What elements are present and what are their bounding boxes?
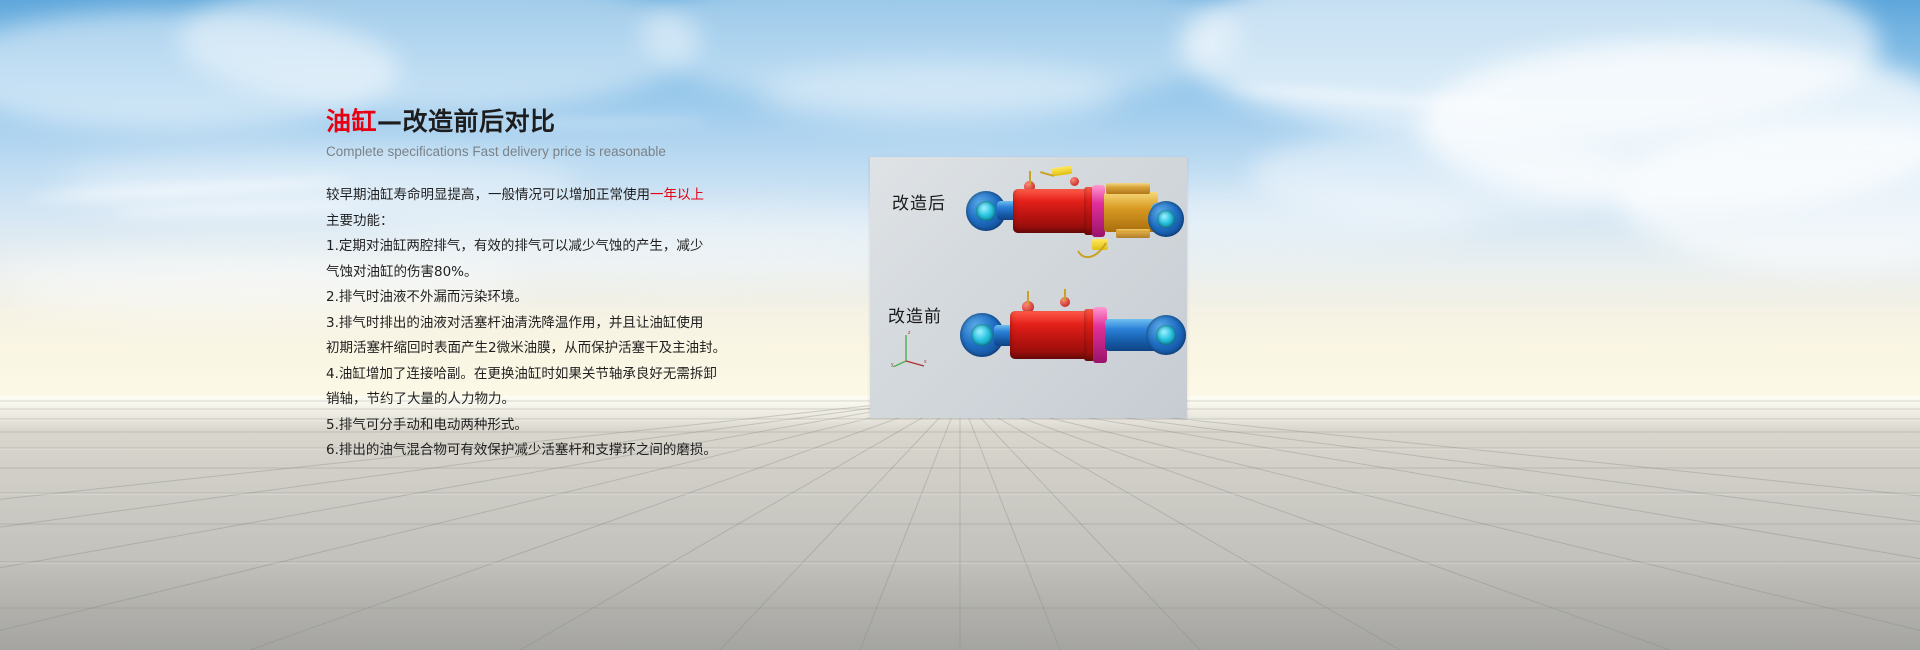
cylinder-coupling-flange (1116, 229, 1150, 238)
cylinder-barrel (1013, 189, 1091, 233)
cylinder-cable (1074, 231, 1114, 265)
ground-plane (0, 396, 1920, 650)
text-line: 5.排气可分手动和电动两种形式。 (326, 413, 746, 439)
cylinder-barrel (1010, 311, 1092, 359)
text-line: 4.油缸增加了连接哈副。在更换油缸时如果关节轴承良好无需拆卸 (326, 362, 746, 388)
title-rest: —改造前后对比 (377, 107, 556, 136)
text-line: 较早期油缸寿命明显提高，一般情况可以增加正常使用一年以上 (326, 183, 746, 209)
text-line: 主要功能： (326, 209, 746, 235)
label-before-modification: 改造前 (888, 302, 942, 327)
cylinder-front-eye (1148, 201, 1184, 237)
text-line: 3.排气时排出的油液对活塞杆油清洗降温作用，并且让油缸使用 (326, 311, 746, 337)
title-highlight: 油缸 (326, 107, 377, 136)
cylinder-after-assembly (966, 165, 1186, 275)
coordinate-axis-icon: z x y (890, 327, 930, 367)
text-line-main: 较早期油缸寿命明显提高，一般情况可以增加正常使用 (326, 187, 650, 203)
feature-text-block: 较早期油缸寿命明显提高，一般情况可以增加正常使用一年以上 主要功能： 1.定期对… (326, 183, 746, 464)
cloud-shape (760, 60, 1120, 130)
text-line: 6.排出的油气混合物可有效保护减少活塞杆和支撑环之间的磨损。 (326, 438, 746, 464)
banner-stage: 油缸—改造前后对比 Complete specifications Fast d… (0, 0, 1920, 650)
svg-text:x: x (924, 359, 927, 365)
text-line: 销轴，节约了大量的人力物力。 (326, 387, 746, 413)
text-line: 1.定期对油缸两腔排气，有效的排气可以减少气蚀的产生，减少 (326, 234, 746, 260)
cylinder-tube (1064, 289, 1066, 301)
page-title: 油缸—改造前后对比 (326, 106, 746, 138)
cylinder-tube (1029, 171, 1031, 185)
cylinder-tube (1027, 291, 1029, 305)
text-line: 初期活塞杆缩回时表面产生2微米油膜，从而保护活塞干及主油封。 (326, 336, 746, 362)
cylinder-coupling-top (1106, 183, 1150, 194)
svg-text:z: z (908, 330, 911, 336)
cylinder-port (1070, 177, 1079, 186)
text-line: 气蚀对油缸的伤害80%。 (326, 260, 746, 286)
label-after-modification: 改造后 (892, 189, 946, 214)
cylinder-front-eye (1146, 315, 1186, 355)
text-line-highlight: 一年以上 (650, 187, 704, 203)
cylinder-before-assembly (960, 267, 1186, 397)
cylinder-valve (1052, 166, 1073, 177)
page-subtitle: Complete specifications Fast delivery pr… (326, 143, 746, 161)
banner-content: 油缸—改造前后对比 Complete specifications Fast d… (326, 106, 746, 464)
text-line: 2.排气时油液不外漏而污染环境。 (326, 285, 746, 311)
product-image-panel: 改造后 改造前 z x y (870, 157, 1187, 418)
ground-shadow (0, 560, 1920, 650)
